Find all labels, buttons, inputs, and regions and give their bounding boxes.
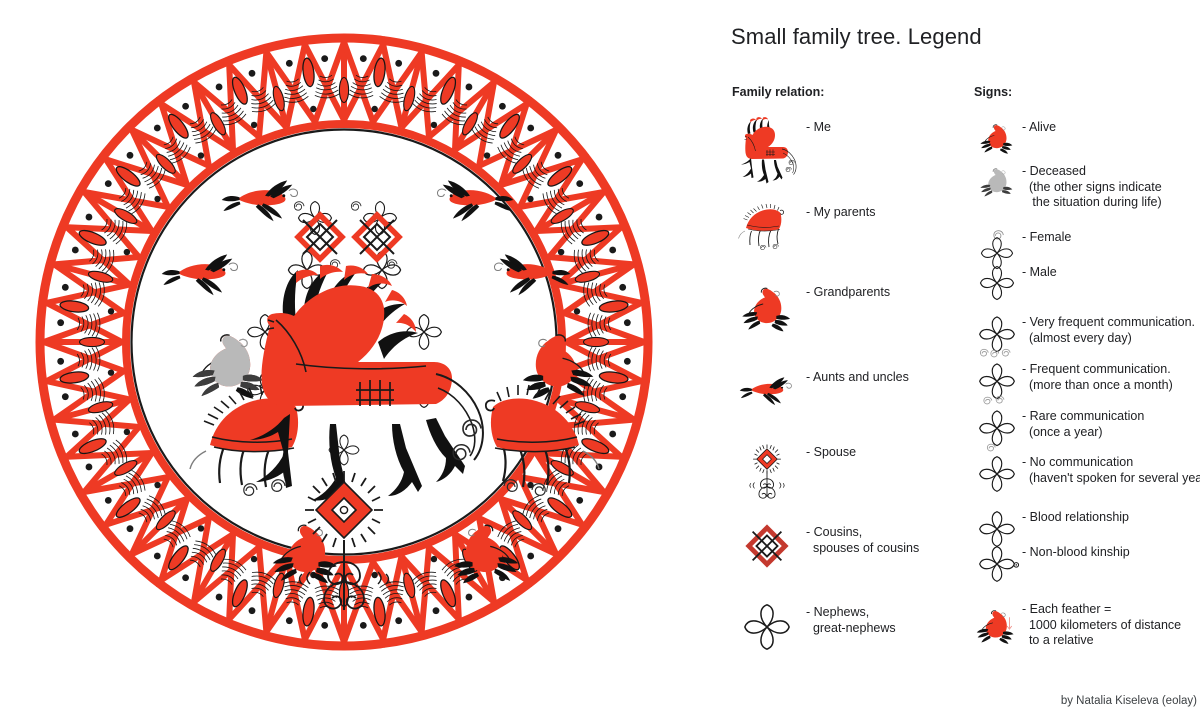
double-rhombus-icon <box>732 523 802 569</box>
quatrefoil-two-curls-icon <box>974 360 1020 406</box>
sign-label: - Each feather = 1000 kilometers of dist… <box>1022 600 1181 649</box>
sign-label: - Blood relationship <box>1022 508 1129 526</box>
sign-item-feather-distance[interactable]: - Each feather = 1000 kilometers of dist… <box>974 600 1200 652</box>
legend-panel: Small family tree. Legend Family relatio… <box>700 0 1200 723</box>
quatrefoil-non-blood-icon <box>974 543 1020 585</box>
sign-label: - Female <box>1022 228 1071 246</box>
legend-label: - My parents <box>806 203 875 221</box>
sign-item-very-frequent-communication[interactable]: - Very frequent communication. (almost e… <box>974 313 1200 359</box>
quatrefoil-no-curl-icon <box>974 453 1020 495</box>
legend-item-spouse[interactable]: - Spouse <box>732 443 962 503</box>
quatrefoil-plain-icon <box>974 263 1020 303</box>
sign-item-alive[interactable]: - Alive <box>974 118 1200 156</box>
sign-label: - Very frequent communication. (almost e… <box>1022 313 1195 346</box>
sign-item-rare-communication[interactable]: - Rare communication (once a year) <box>974 407 1200 453</box>
sign-item-male[interactable]: - Male <box>974 263 1200 303</box>
red-swan-arrow-icon <box>974 600 1020 652</box>
legend-label: - Aunts and uncles <box>806 368 909 386</box>
sign-label: - Alive <box>1022 118 1056 136</box>
page-title: Small family tree. Legend <box>731 24 982 50</box>
grey-swan-icon <box>974 162 1020 200</box>
sign-item-non-blood-kinship[interactable]: - Non-blood kinship <box>974 543 1200 585</box>
legend-item-my-parents[interactable]: - My parents <box>732 203 962 253</box>
family-relation-heading: Family relation: <box>732 85 824 99</box>
horse-icon <box>732 203 802 253</box>
credit-text: by Natalia Kiseleva (eolay) <box>1061 695 1197 707</box>
diamond-tree-icon <box>732 443 802 503</box>
red-swan-icon <box>974 118 1020 156</box>
quatrefoil-icon <box>732 603 802 651</box>
legend-label: - Cousins, spouses of cousins <box>806 523 919 556</box>
legend-item-aunts-uncles[interactable]: - Aunts and uncles <box>732 368 962 412</box>
page-root: Small family tree. Legend Family relatio… <box>0 0 1200 723</box>
legend-label: - Nephews, great-nephews <box>806 603 896 636</box>
quatrefoil-one-curl-icon <box>974 407 1020 453</box>
sign-label: - Male <box>1022 263 1057 281</box>
legend-label: - Grandparents <box>806 283 890 301</box>
signs-heading: Signs: <box>974 85 1012 99</box>
sign-item-frequent-communication[interactable]: - Frequent communication. (more than onc… <box>974 360 1200 406</box>
rearing-horse-icon <box>732 118 802 164</box>
bird-icon <box>732 368 802 412</box>
legend-label: - Spouse <box>806 443 856 461</box>
legend-label: - Me <box>806 118 831 136</box>
sign-label: - Frequent communication. (more than onc… <box>1022 360 1173 393</box>
legend-item-me[interactable]: - Me <box>732 118 962 164</box>
legend-item-nephews[interactable]: - Nephews, great-nephews <box>732 603 962 651</box>
sign-item-deceased[interactable]: - Deceased (the other signs indicate the… <box>974 162 1200 211</box>
sign-label: - No communication (haven't spoken for s… <box>1022 453 1200 486</box>
sign-label: - Non-blood kinship <box>1022 543 1130 561</box>
sign-item-no-communication[interactable]: - No communication (haven't spoken for s… <box>974 453 1200 495</box>
legend-item-cousins[interactable]: - Cousins, spouses of cousins <box>732 523 962 569</box>
sign-label: - Deceased (the other signs indicate the… <box>1022 162 1162 211</box>
sign-label: - Rare communication (once a year) <box>1022 407 1144 440</box>
quatrefoil-three-curls-icon <box>974 313 1020 359</box>
mezen-mandala-illustration <box>32 30 656 654</box>
legend-item-grandparents[interactable]: - Grandparents <box>732 283 962 333</box>
swan-icon <box>732 283 802 333</box>
